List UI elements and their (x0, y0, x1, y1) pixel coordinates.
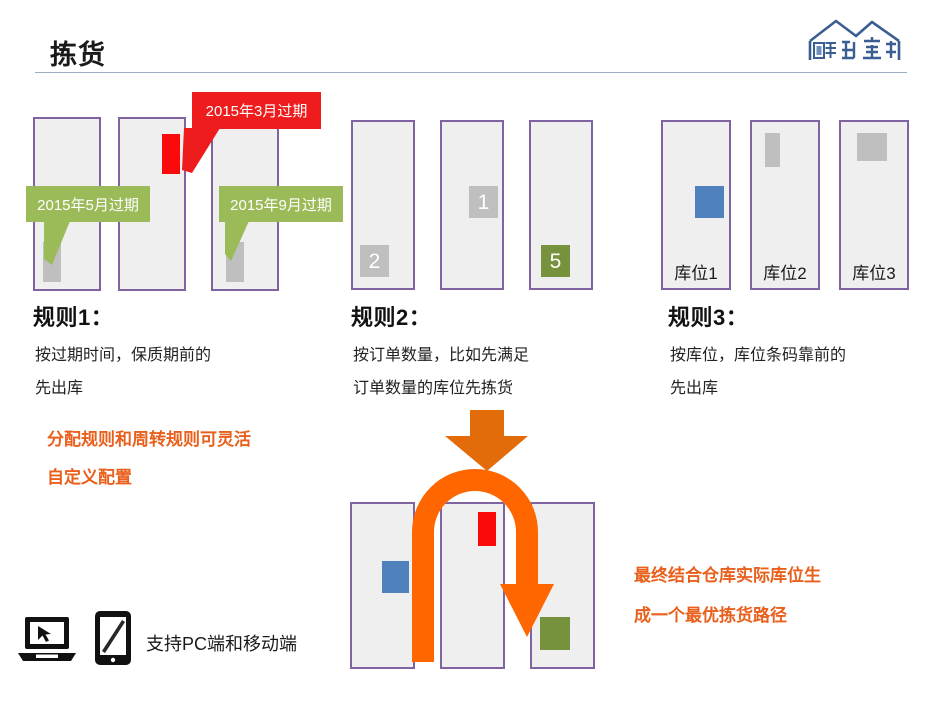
rule1-line-2: 先出库 (35, 374, 83, 398)
callout-expire-2015-05-label: 2015年5月过期 (37, 194, 139, 215)
callout-expire-2015-09-label: 2015年9月过期 (230, 194, 332, 215)
callout-expire-2015-09-tail (219, 221, 274, 266)
rule2-line-2: 订单数量的库位先拣货 (353, 374, 513, 398)
rule2-bin-3-qty-value: 5 (541, 245, 570, 277)
rule3-bin-2-label: 库位2 (752, 259, 818, 284)
tablet-icon (92, 609, 134, 667)
highlight-left-line-2: 自定义配置 (47, 463, 132, 488)
kucangbao-logo (806, 17, 903, 64)
rule2-bin-1-qty[interactable]: 2 (360, 245, 389, 277)
highlight-right-line-1: 最终结合仓库实际库位生 (634, 561, 821, 586)
rule1-title: 规则1： (33, 300, 113, 332)
rule3-bin-2[interactable]: 库位2 (750, 120, 820, 290)
rule3-bin-3-item[interactable] (857, 133, 887, 161)
u-turn-path-arrow-icon (395, 462, 575, 677)
rule3-title: 规则3： (668, 300, 748, 332)
callout-expire-2015-03-tail (178, 128, 238, 178)
rule3-bin-2-item[interactable] (765, 133, 780, 167)
rule2-bin-2-qty-value: 1 (469, 186, 498, 218)
header-divider (35, 72, 907, 73)
callout-expire-2015-03-label: 2015年3月过期 (206, 100, 308, 121)
rule2-line-1: 按订单数量，比如先满足 (353, 341, 529, 365)
rule3-bin-1-label: 库位1 (663, 259, 729, 284)
highlight-left-line-1: 分配规则和周转规则可灵活 (47, 425, 251, 450)
rule2-bin-2-qty[interactable]: 1 (469, 186, 498, 218)
support-platform-text: 支持PC端和移动端 (146, 630, 297, 656)
rule1-line-1: 按过期时间，保质期前的 (35, 341, 211, 365)
laptop-icon (16, 613, 78, 666)
rule2-title: 规则2： (351, 300, 431, 332)
callout-expire-2015-05-tail (36, 221, 91, 271)
callout-expire-2015-09: 2015年9月过期 (219, 186, 343, 222)
callout-expire-2015-05: 2015年5月过期 (26, 186, 150, 222)
rule2-bin-1-qty-value: 2 (360, 245, 389, 277)
callout-expire-2015-03: 2015年3月过期 (192, 92, 321, 129)
slide-canvas: 拣货 2015年3月过期 20 (0, 0, 940, 705)
rule3-bin-3-label: 库位3 (841, 259, 907, 284)
rule3-line-2: 先出库 (670, 374, 718, 398)
rule3-bin-1-item[interactable] (695, 186, 724, 218)
rule3-line-1: 按库位，库位条码靠前的 (670, 341, 846, 365)
highlight-right-line-2: 成一个最优拣货路径 (634, 601, 787, 626)
rule2-bin-3-qty[interactable]: 5 (541, 245, 570, 277)
page-title: 拣货 (50, 33, 106, 72)
